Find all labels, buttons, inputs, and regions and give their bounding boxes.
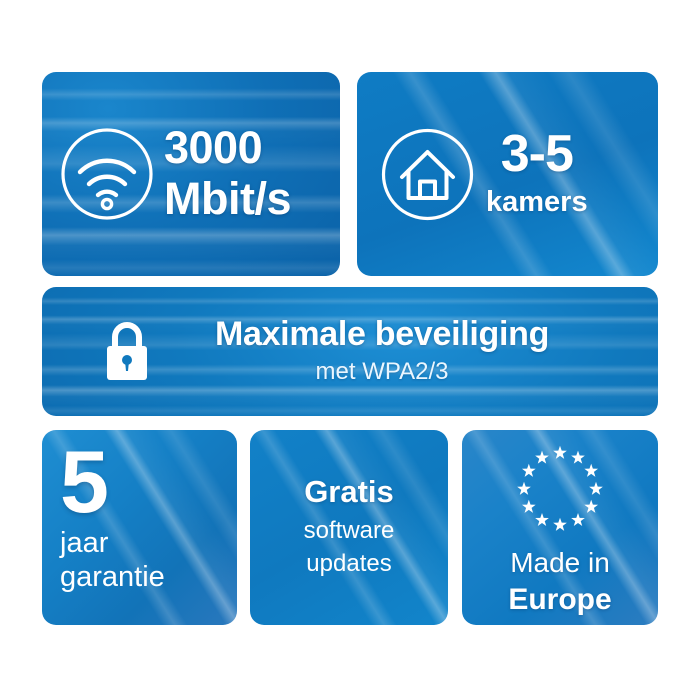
warranty-card: 5 jaar garantie [42,430,237,625]
warranty-years: 5 [60,440,237,524]
rooms-value: 3-5 [486,128,588,180]
updates-line1: software [304,515,395,547]
europe-line2: Europe [508,582,611,618]
updates-card: Gratis software updates [250,430,448,625]
updates-title: Gratis [304,475,394,509]
security-title: Maximale beveiliging [152,316,612,353]
security-text: Maximale beveiliging met WPA2/3 [152,316,612,386]
europe-line1: Made in [510,546,610,580]
rooms-card: 3-5 kamers [357,72,658,276]
security-banner: Maximale beveiliging met WPA2/3 [42,287,658,416]
warranty-label: garantie [60,560,237,595]
rooms-label: kamers [486,184,588,220]
wifi-icon [58,125,156,223]
speed-unit: Mbit/s [164,174,291,225]
house-icon [379,126,476,223]
padlock-icon [102,320,152,384]
speed-text: 3000 Mbit/s [164,123,291,225]
rooms-text: 3-5 kamers [486,128,588,220]
speed-value: 3000 [164,123,291,174]
speed-card: 3000 Mbit/s [42,72,340,276]
feature-card-grid: 3000 Mbit/s 3-5 kamers [0,0,700,700]
warranty-unit: jaar [60,526,237,561]
security-subtitle: met WPA2/3 [152,357,612,387]
eu-stars-icon [508,442,612,540]
updates-line2: updates [306,548,391,580]
made-in-europe-card: Made in Europe [462,430,658,625]
